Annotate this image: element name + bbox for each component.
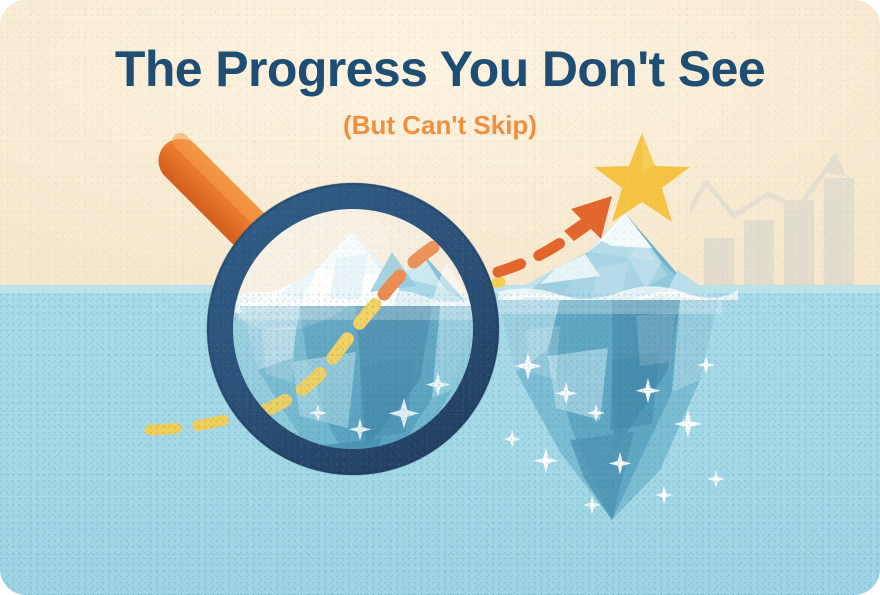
page-subtitle: (But Can't Skip)	[0, 110, 880, 141]
arrow-head-icon	[564, 196, 612, 241]
page-title: The Progress You Don't See	[0, 40, 880, 98]
magnifying-glass[interactable]	[147, 127, 500, 502]
poster: The Progress You Don't See (But Can't Sk…	[0, 0, 880, 595]
